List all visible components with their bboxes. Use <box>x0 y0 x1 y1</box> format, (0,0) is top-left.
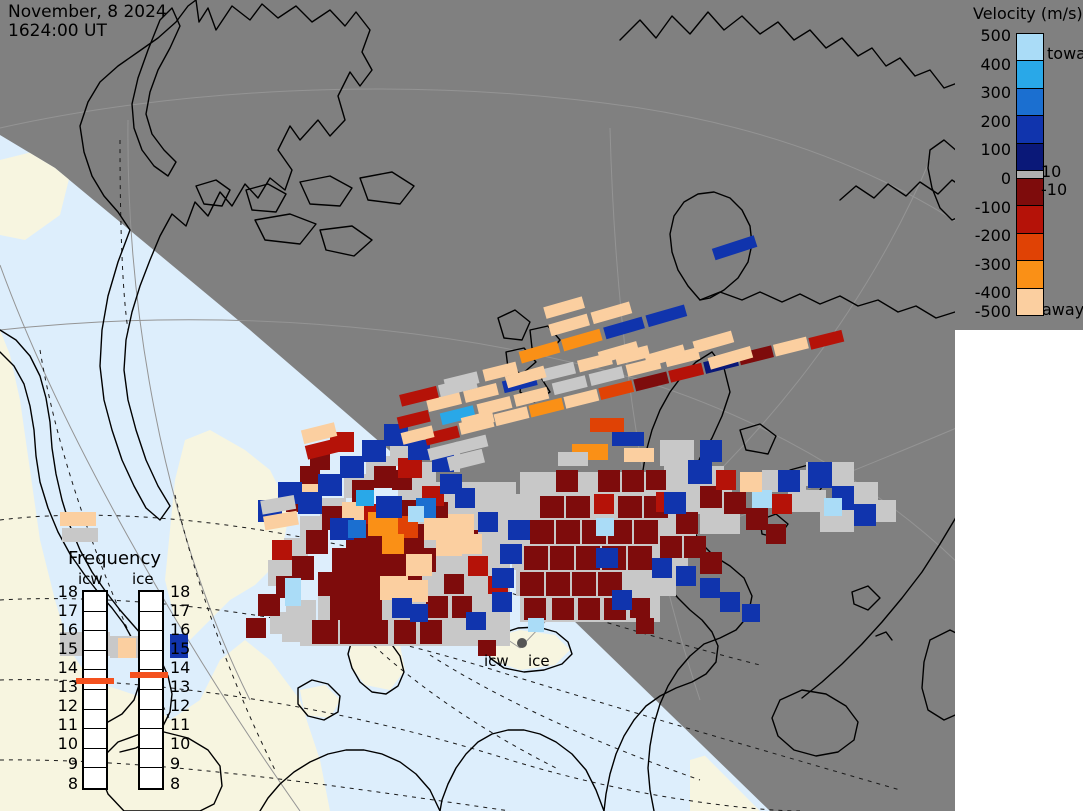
frequency-segment <box>140 729 162 749</box>
freq-tick-r-11: 11 <box>170 715 192 734</box>
freq-tick-l-11: 11 <box>56 715 78 734</box>
freq-tick-r-10: 10 <box>170 734 192 753</box>
colorbar-band-away-3 <box>1017 234 1043 261</box>
timestamp-time: 1624:00 UT <box>8 21 107 41</box>
colorbar-band-away-1 <box>1017 179 1043 206</box>
colorbar-tick-n500: -500 <box>963 302 1011 321</box>
frequency-marker-icw <box>76 678 114 684</box>
colorbar-band-away-2 <box>1017 206 1043 233</box>
freq-tick-r-9: 9 <box>170 754 192 773</box>
site-label-icw: icw <box>484 652 509 670</box>
freq-tick-l-9: 9 <box>56 754 78 773</box>
colorbar-band-toward-2 <box>1017 116 1043 143</box>
colorbar-strip <box>1016 33 1044 316</box>
colorbar-band-toward-5 <box>1017 34 1043 61</box>
frequency-segment <box>84 592 106 612</box>
colorbar-tick-n300: -300 <box>963 255 1011 274</box>
frequency-segment <box>84 710 106 730</box>
frequency-marker-ice <box>130 672 168 678</box>
frequency-title: Frequency <box>68 548 161 569</box>
colorbar-title: Velocity (m/s) <box>973 4 1083 23</box>
frequency-segment <box>140 749 162 769</box>
colorbar-toward-label: toward <box>1047 44 1083 63</box>
frequency-segment <box>84 690 106 710</box>
colorbar-tick-0: 0 <box>963 169 1011 188</box>
colorbar-band-toward-3 <box>1017 89 1043 116</box>
colorbar-band-zero <box>1017 171 1043 179</box>
frequency-segment <box>84 651 106 671</box>
freq-tick-r-16: 16 <box>170 620 192 639</box>
colorbar-tick-n200: -200 <box>963 226 1011 245</box>
freq-tick-r-12: 12 <box>170 696 192 715</box>
frequency-col-label-icw: icw <box>78 570 103 588</box>
colorbar-tick-n100: -100 <box>963 198 1011 217</box>
colorbar-tick-100: 100 <box>963 140 1011 159</box>
colorbar-tick-400: 400 <box>963 55 1011 74</box>
frequency-segment <box>84 768 106 788</box>
freq-tick-r-13: 13 <box>170 677 192 696</box>
freq-tick-r-8: 8 <box>170 774 192 793</box>
freq-tick-l-17: 17 <box>56 601 78 620</box>
frequency-bar-icw <box>82 590 108 790</box>
freq-tick-l-12: 12 <box>56 696 78 715</box>
frequency-col-label-ice: ice <box>132 570 154 588</box>
frequency-segment <box>140 690 162 710</box>
frequency-segment <box>140 710 162 730</box>
frequency-segment <box>84 749 106 769</box>
freq-tick-r-14: 14 <box>170 658 192 677</box>
frequency-segment <box>140 592 162 612</box>
frequency-segment <box>140 768 162 788</box>
freq-tick-r-18: 18 <box>170 582 192 601</box>
freq-tick-l-8: 8 <box>56 774 78 793</box>
colorbar-tick-200: 200 <box>963 112 1011 131</box>
timestamp-date: November, 8 2024 <box>8 2 167 22</box>
colorbar-tick-n400: -400 <box>963 283 1011 302</box>
frequency-legend: Frequency icw ice 18 17 16 15 14 13 12 1… <box>56 548 236 788</box>
colorbar-away-label: away <box>1042 300 1083 319</box>
colorbar-band-toward-1 <box>1017 144 1043 171</box>
site-label-ice: ice <box>528 652 550 670</box>
freq-tick-l-10: 10 <box>56 734 78 753</box>
freq-tick-r-15: 15 <box>170 639 192 658</box>
colorbar-zero-upper: 10 <box>1041 162 1061 181</box>
frequency-segment <box>84 612 106 632</box>
colorbar-band-toward-4 <box>1017 61 1043 88</box>
freq-tick-l-16: 16 <box>56 620 78 639</box>
frequency-segment <box>140 612 162 632</box>
colorbar-zero-lower: -10 <box>1041 180 1067 199</box>
freq-tick-l-18: 18 <box>56 582 78 601</box>
fan-plot-canvas: November, 8 20241624:00 UT icw ice Veloc… <box>0 0 1083 811</box>
colorbar-tick-500: 500 <box>963 26 1011 45</box>
frequency-segment <box>84 631 106 651</box>
freq-tick-l-15: 15 <box>56 639 78 658</box>
colorbar-band-away-5 <box>1017 289 1043 315</box>
colorbar-tick-300: 300 <box>963 83 1011 102</box>
frequency-bar-ice <box>138 590 164 790</box>
frequency-segment <box>140 651 162 671</box>
freq-tick-r-17: 17 <box>170 601 192 620</box>
colorbar-band-away-4 <box>1017 261 1043 288</box>
freq-tick-l-14: 14 <box>56 658 78 677</box>
freq-tick-l-13: 13 <box>56 677 78 696</box>
timestamp: November, 8 20241624:00 UT <box>8 3 167 41</box>
frequency-segment <box>140 631 162 651</box>
frequency-segment <box>84 729 106 749</box>
